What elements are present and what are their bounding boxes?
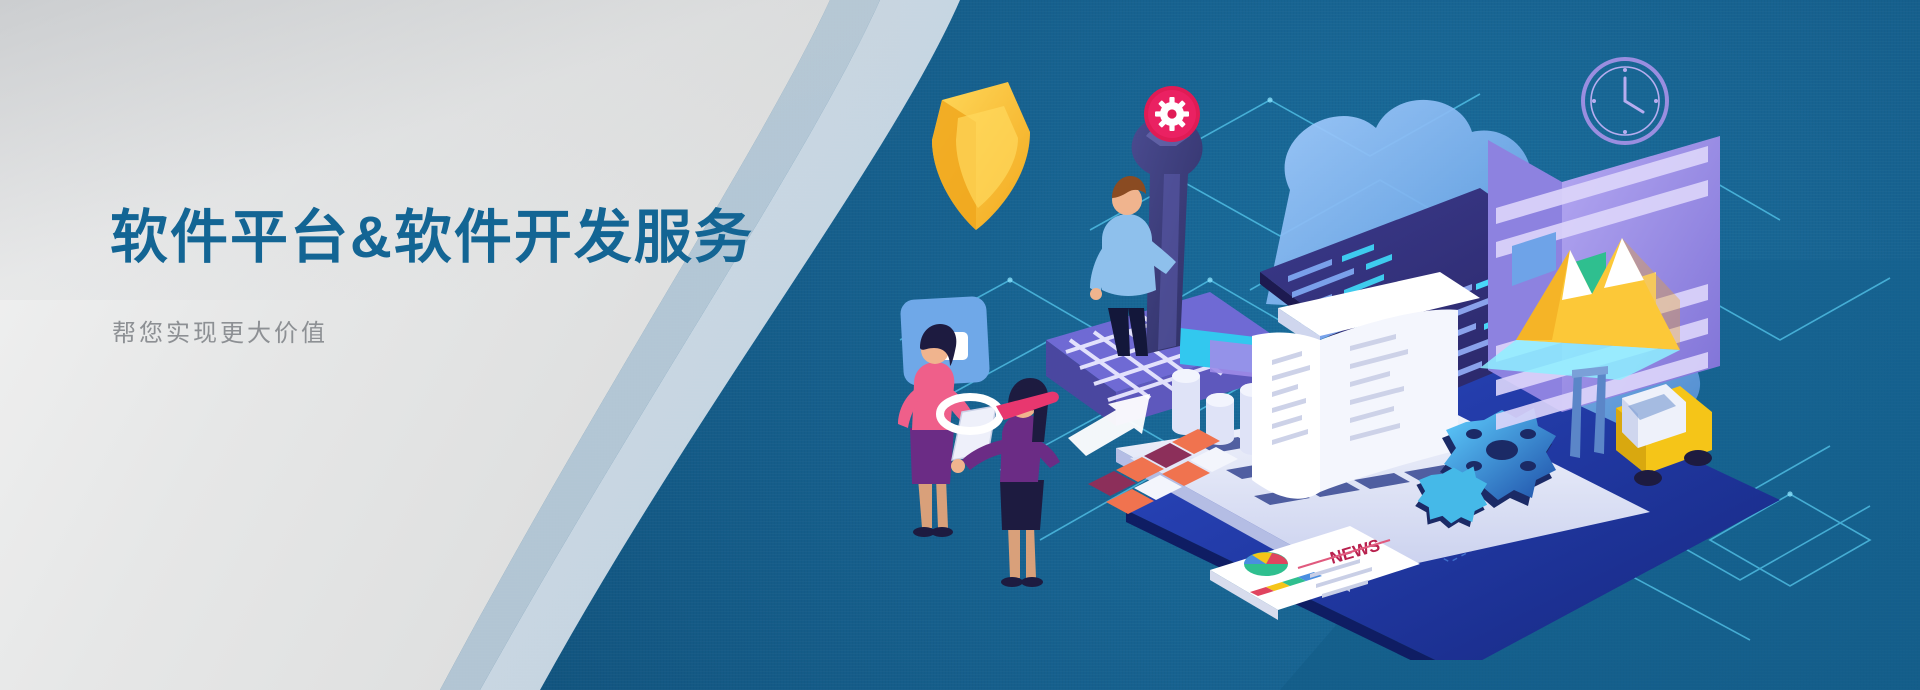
page-subtitle: 帮您实现更大价值 xyxy=(112,313,830,348)
page-title: 软件平台&软件开发服务 xyxy=(110,205,830,271)
banner-copy: 软件平台&软件开发服务 帮您实现更大价值 xyxy=(110,205,830,348)
gear-badge-icon xyxy=(1144,86,1200,142)
hero-banner: NEWS xyxy=(0,0,1920,690)
clock-icon xyxy=(1583,59,1667,143)
